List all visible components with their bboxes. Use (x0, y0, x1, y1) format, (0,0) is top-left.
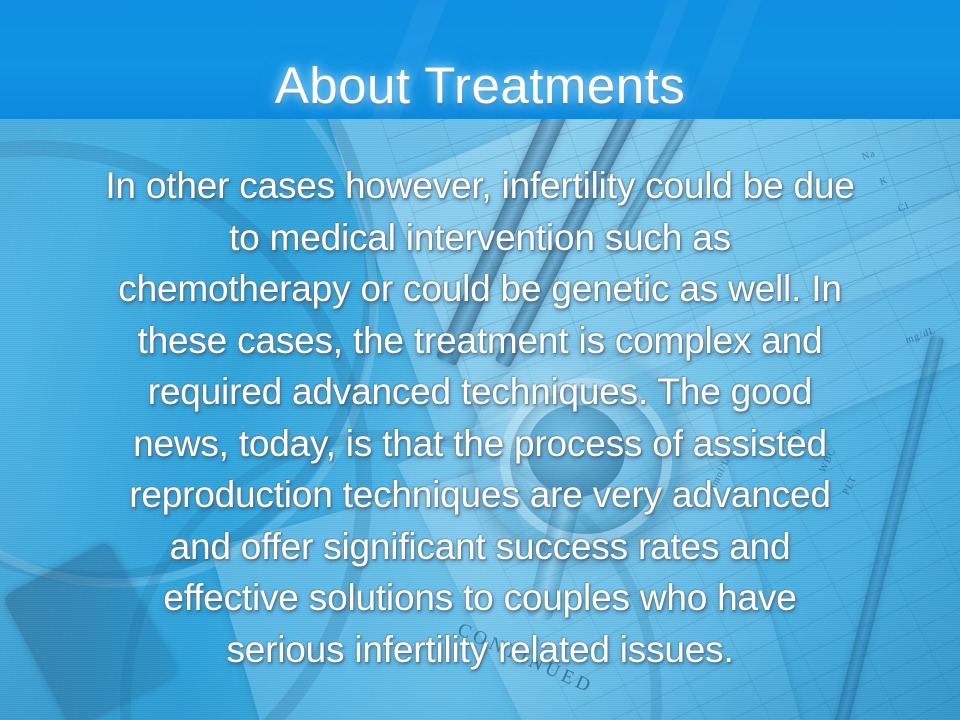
body-line: reproduction techniques are very advance… (48, 469, 912, 521)
slide-canvas: Na K Cl Hb WBC PLT mg/dL mmol/L CONTINUE… (0, 0, 960, 720)
body-paragraph: In other cases however, infertility coul… (48, 160, 912, 675)
body-line: serious infertility related issues. (48, 624, 912, 676)
body-line: news, today, is that the process of assi… (48, 418, 912, 470)
body-line: to medical intervention such as (48, 212, 912, 264)
title-band: About Treatments (0, 0, 960, 119)
body-line: and offer significant success rates and (48, 521, 912, 573)
body-line: chemotherapy or could be genetic as well… (48, 263, 912, 315)
body-line: effective solutions to couples who have (48, 572, 912, 624)
page-title: About Treatments (0, 60, 960, 111)
body-line: these cases, the treatment is complex an… (48, 315, 912, 367)
body-line: In other cases however, infertility coul… (48, 160, 912, 212)
body-line: required advanced techniques. The good (48, 366, 912, 418)
